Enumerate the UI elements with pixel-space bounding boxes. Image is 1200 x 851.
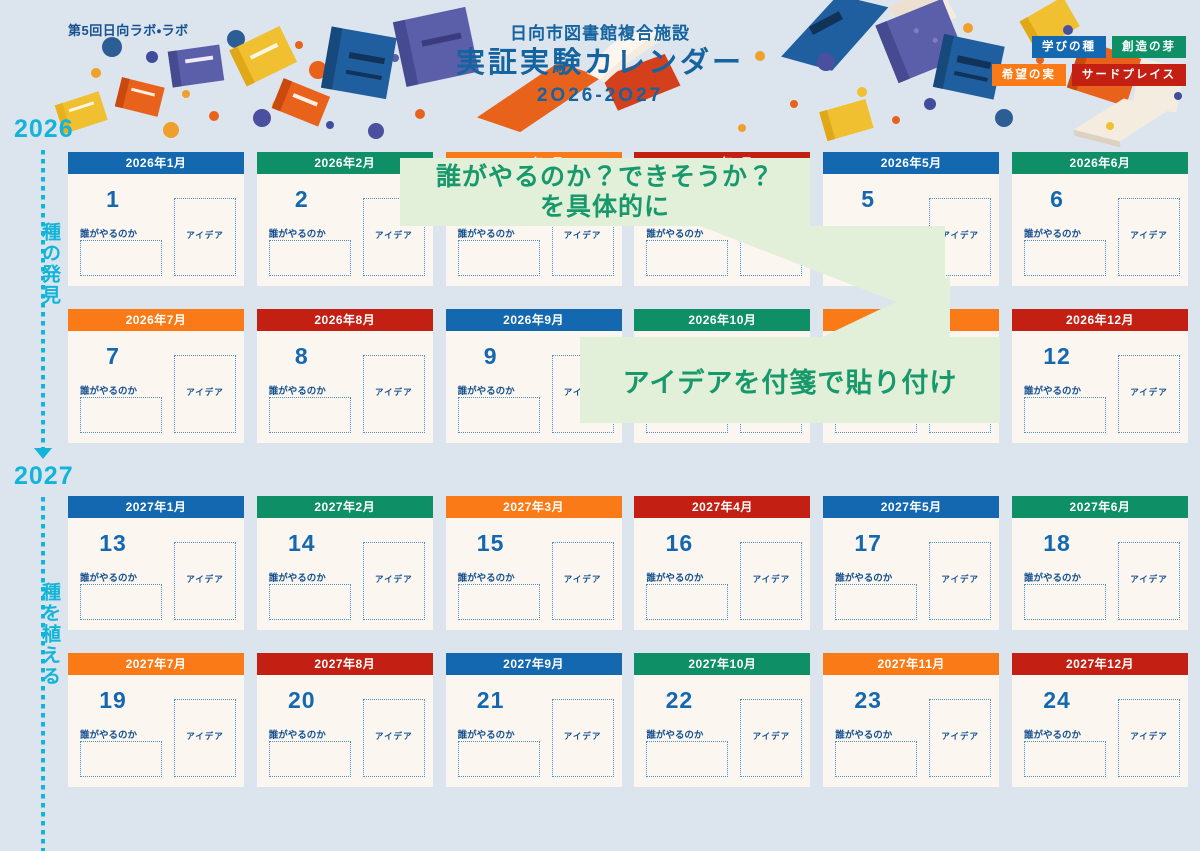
idea-label: アイデア bbox=[364, 386, 424, 398]
month-card-header: 2026年7月 bbox=[68, 309, 244, 331]
idea-label: アイデア bbox=[553, 573, 613, 585]
who-label: 誰がやるのか bbox=[80, 727, 137, 741]
month-card-number: 5 bbox=[861, 186, 875, 213]
month-card[interactable]: 2027年2月14誰がやるのかアイデア bbox=[257, 496, 433, 630]
month-card-header: 2027年12月 bbox=[1012, 653, 1188, 675]
month-card-number: 15 bbox=[477, 530, 505, 557]
month-card-number: 16 bbox=[666, 530, 694, 557]
callout-sticky-ideas: アイデアを付箋で貼り付け bbox=[580, 337, 1000, 423]
month-card-body: 22誰がやるのかアイデア bbox=[634, 675, 810, 787]
month-card-header: 2027年9月 bbox=[446, 653, 622, 675]
month-card-header: 2026年12月 bbox=[1012, 309, 1188, 331]
callout-who-does-it: 誰がやるのか？できそうか？を具体的に bbox=[400, 158, 810, 226]
month-card-number: 22 bbox=[666, 687, 694, 714]
legend-item-souzou[interactable]: 創造の芽 bbox=[1112, 36, 1186, 58]
who-label: 誰がやるのか bbox=[269, 383, 326, 397]
who-label: 誰がやるのか bbox=[80, 570, 137, 584]
who-label: 誰がやるのか bbox=[80, 226, 137, 240]
month-card-header: 2026年6月 bbox=[1012, 152, 1188, 174]
who-input-box[interactable] bbox=[835, 741, 917, 777]
month-card-number: 2 bbox=[295, 186, 309, 213]
who-label: 誰がやるのか bbox=[1024, 383, 1081, 397]
month-card[interactable]: 2027年12月24誰がやるのかアイデア bbox=[1012, 653, 1188, 787]
who-input-box[interactable] bbox=[80, 240, 162, 276]
who-label: 誰がやるのか bbox=[458, 383, 515, 397]
month-card-body: 7誰がやるのかアイデア bbox=[68, 331, 244, 443]
month-card-body: 21誰がやるのかアイデア bbox=[446, 675, 622, 787]
who-label: 誰がやるのか bbox=[80, 383, 137, 397]
month-card-header: 2027年10月 bbox=[634, 653, 810, 675]
idea-input-box[interactable]: アイデア bbox=[363, 699, 425, 777]
who-label: 誰がやるのか bbox=[269, 226, 326, 240]
who-input-box[interactable] bbox=[80, 397, 162, 433]
month-card-number: 14 bbox=[288, 530, 316, 557]
month-card-number: 9 bbox=[484, 343, 498, 370]
idea-label: アイデア bbox=[1119, 386, 1179, 398]
month-card[interactable]: 2027年7月19誰がやるのかアイデア bbox=[68, 653, 244, 787]
month-card-body: 17誰がやるのかアイデア bbox=[823, 518, 999, 630]
month-card-body: 12誰がやるのかアイデア bbox=[1012, 331, 1188, 443]
month-card-body: 8誰がやるのかアイデア bbox=[257, 331, 433, 443]
who-input-box[interactable] bbox=[458, 397, 540, 433]
idea-label: アイデア bbox=[364, 229, 424, 241]
month-card-number: 13 bbox=[99, 530, 127, 557]
who-input-box[interactable] bbox=[458, 584, 540, 620]
idea-label: アイデア bbox=[741, 730, 801, 742]
month-card-number: 8 bbox=[295, 343, 309, 370]
month-card[interactable]: 2026年1月1誰がやるのかアイデア bbox=[68, 152, 244, 286]
idea-label: アイデア bbox=[553, 229, 613, 241]
month-card[interactable]: 2026年12月12誰がやるのかアイデア bbox=[1012, 309, 1188, 443]
who-input-box[interactable] bbox=[1024, 240, 1106, 276]
idea-input-box[interactable]: アイデア bbox=[174, 198, 236, 276]
who-label: 誰がやるのか bbox=[835, 570, 892, 584]
title-year-range: 2O26-2O27 bbox=[430, 85, 770, 107]
month-card-body: 6誰がやるのかアイデア bbox=[1012, 174, 1188, 286]
idea-label: アイデア bbox=[364, 573, 424, 585]
month-card-body: 16誰がやるのかアイデア bbox=[634, 518, 810, 630]
who-input-box[interactable] bbox=[458, 240, 540, 276]
who-input-box[interactable] bbox=[458, 741, 540, 777]
month-card[interactable]: 2026年7月7誰がやるのかアイデア bbox=[68, 309, 244, 443]
legend-item-kibou[interactable]: 希望の実 bbox=[992, 64, 1066, 86]
month-card[interactable]: 2027年10月22誰がやるのかアイデア bbox=[634, 653, 810, 787]
idea-input-box[interactable]: アイデア bbox=[740, 699, 802, 777]
month-card-header: 2026年9月 bbox=[446, 309, 622, 331]
month-card-header: 2027年4月 bbox=[634, 496, 810, 518]
calendar-row-2027-h1: 2027年1月13誰がやるのかアイデア2027年2月14誰がやるのかアイデア20… bbox=[68, 496, 1188, 630]
who-input-box[interactable] bbox=[646, 240, 728, 276]
idea-input-box[interactable]: アイデア bbox=[174, 699, 236, 777]
idea-label: アイデア bbox=[1119, 730, 1179, 742]
month-card-header: 2027年3月 bbox=[446, 496, 622, 518]
idea-label: アイデア bbox=[175, 386, 235, 398]
who-input-box[interactable] bbox=[646, 584, 728, 620]
month-card-number: 19 bbox=[99, 687, 127, 714]
month-card[interactable]: 2027年3月15誰がやるのかアイデア bbox=[446, 496, 622, 630]
who-label: 誰がやるのか bbox=[269, 570, 326, 584]
month-card-body: 1誰がやるのかアイデア bbox=[68, 174, 244, 286]
callout-text: アイデアを付箋で貼り付け bbox=[623, 361, 958, 400]
legend-item-manabi[interactable]: 学びの種 bbox=[1032, 36, 1106, 58]
who-label: 誰がやるのか bbox=[646, 570, 703, 584]
who-input-box[interactable] bbox=[269, 397, 351, 433]
idea-label: アイデア bbox=[930, 730, 990, 742]
idea-input-box[interactable]: アイデア bbox=[552, 699, 614, 777]
who-input-box[interactable] bbox=[1024, 741, 1106, 777]
month-card-number: 24 bbox=[1043, 687, 1071, 714]
month-card-number: 17 bbox=[854, 530, 882, 557]
idea-label: アイデア bbox=[175, 229, 235, 241]
month-card-number: 20 bbox=[288, 687, 316, 714]
who-input-box[interactable] bbox=[1024, 397, 1106, 433]
who-label: 誰がやるのか bbox=[1024, 570, 1081, 584]
month-card-header: 2027年11月 bbox=[823, 653, 999, 675]
month-card-body: 23誰がやるのかアイデア bbox=[823, 675, 999, 787]
month-card-header: 2026年5月 bbox=[823, 152, 999, 174]
who-label: 誰がやるのか bbox=[458, 570, 515, 584]
idea-label: アイデア bbox=[553, 730, 613, 742]
idea-input-box[interactable]: アイデア bbox=[1118, 198, 1180, 276]
month-card[interactable]: 2027年6月18誰がやるのかアイデア bbox=[1012, 496, 1188, 630]
month-card-body: 13誰がやるのかアイデア bbox=[68, 518, 244, 630]
month-card-body: 19誰がやるのかアイデア bbox=[68, 675, 244, 787]
month-card[interactable]: 2027年9月21誰がやるのかアイデア bbox=[446, 653, 622, 787]
idea-input-box[interactable]: アイデア bbox=[1118, 542, 1180, 620]
month-card[interactable]: 2027年5月17誰がやるのかアイデア bbox=[823, 496, 999, 630]
month-card-header: 2027年7月 bbox=[68, 653, 244, 675]
callout-text: 誰がやるのか？できそうか？を具体的に bbox=[436, 162, 774, 223]
who-label: 誰がやるのか bbox=[1024, 226, 1081, 240]
month-card-body: 20誰がやるのかアイデア bbox=[257, 675, 433, 787]
month-card-header: 2026年1月 bbox=[68, 152, 244, 174]
idea-input-box[interactable]: アイデア bbox=[1118, 355, 1180, 433]
legend-item-thirdplace[interactable]: サードプレイス bbox=[1072, 64, 1186, 86]
idea-input-box[interactable]: アイデア bbox=[1118, 699, 1180, 777]
month-card-number: 12 bbox=[1043, 343, 1071, 370]
who-input-box[interactable] bbox=[269, 584, 351, 620]
timeline-rail: 2026 種の発見 2027 種を植える bbox=[0, 112, 68, 842]
rail-year-2026: 2026 bbox=[14, 115, 74, 144]
month-card[interactable]: 2027年11月23誰がやるのかアイデア bbox=[823, 653, 999, 787]
idea-label: アイデア bbox=[1119, 229, 1179, 241]
month-card-number: 6 bbox=[1050, 186, 1064, 213]
calendar-row-2027-h2: 2027年7月19誰がやるのかアイデア2027年8月20誰がやるのかアイデア20… bbox=[68, 653, 1188, 787]
idea-input-box[interactable]: アイデア bbox=[929, 542, 991, 620]
month-card-header: 2027年6月 bbox=[1012, 496, 1188, 518]
idea-input-box[interactable]: アイデア bbox=[740, 542, 802, 620]
month-card-body: 15誰がやるのかアイデア bbox=[446, 518, 622, 630]
who-input-box[interactable] bbox=[269, 240, 351, 276]
idea-input-box[interactable]: アイデア bbox=[552, 542, 614, 620]
idea-input-box[interactable]: アイデア bbox=[174, 542, 236, 620]
who-label: 誰がやるのか bbox=[269, 727, 326, 741]
idea-input-box[interactable]: アイデア bbox=[929, 699, 991, 777]
month-card-number: 7 bbox=[106, 343, 120, 370]
who-input-box[interactable] bbox=[646, 741, 728, 777]
rail-phase-label-2027: 種を植える bbox=[29, 582, 59, 687]
month-card-header: 2027年5月 bbox=[823, 496, 999, 518]
idea-label: アイデア bbox=[364, 730, 424, 742]
idea-label: アイデア bbox=[175, 573, 235, 585]
month-card-number: 23 bbox=[854, 687, 882, 714]
who-label: 誰がやるのか bbox=[646, 226, 703, 240]
who-label: 誰がやるのか bbox=[458, 727, 515, 741]
who-input-box[interactable] bbox=[269, 741, 351, 777]
who-input-box[interactable] bbox=[80, 741, 162, 777]
month-card-body: 24誰がやるのかアイデア bbox=[1012, 675, 1188, 787]
who-input-box[interactable] bbox=[835, 584, 917, 620]
idea-label: アイデア bbox=[175, 730, 235, 742]
month-card-number: 1 bbox=[106, 186, 120, 213]
month-card[interactable]: 2026年6月6誰がやるのかアイデア bbox=[1012, 152, 1188, 286]
month-card-body: 14誰がやるのかアイデア bbox=[257, 518, 433, 630]
idea-input-box[interactable]: アイデア bbox=[363, 355, 425, 433]
legend: 学びの種 創造の芽 希望の実 サードプレイス bbox=[978, 36, 1186, 86]
who-label: 誰がやるのか bbox=[458, 226, 515, 240]
month-card-header: 2026年8月 bbox=[257, 309, 433, 331]
who-input-box[interactable] bbox=[1024, 584, 1106, 620]
idea-input-box[interactable]: アイデア bbox=[363, 542, 425, 620]
event-kicker: 第5回日向ラボ・ラボ bbox=[68, 20, 189, 39]
month-card-header: 2027年8月 bbox=[257, 653, 433, 675]
month-card-number: 21 bbox=[477, 687, 505, 714]
who-label: 誰がやるのか bbox=[835, 727, 892, 741]
idea-input-box[interactable]: アイデア bbox=[174, 355, 236, 433]
month-card[interactable]: 2027年1月13誰がやるのかアイデア bbox=[68, 496, 244, 630]
month-card-header: 2027年2月 bbox=[257, 496, 433, 518]
calendar-poster: 第5回日向ラボ・ラボ 日向市図書館複合施設 実証実験カレンダー 2O26-2O2… bbox=[0, 0, 1200, 851]
who-input-box[interactable] bbox=[80, 584, 162, 620]
month-card[interactable]: 2027年8月20誰がやるのかアイデア bbox=[257, 653, 433, 787]
who-label: 誰がやるのか bbox=[1024, 727, 1081, 741]
page-title: 実証実験カレンダー bbox=[430, 44, 770, 83]
idea-label: アイデア bbox=[741, 573, 801, 585]
month-card-header: 2026年10月 bbox=[634, 309, 810, 331]
rail-arrow-2026 bbox=[34, 448, 52, 459]
month-card[interactable]: 2027年4月16誰がやるのかアイデア bbox=[634, 496, 810, 630]
month-card-number: 18 bbox=[1043, 530, 1071, 557]
month-card-body: 18誰がやるのかアイデア bbox=[1012, 518, 1188, 630]
month-card[interactable]: 2026年8月8誰がやるのかアイデア bbox=[257, 309, 433, 443]
who-label: 誰がやるのか bbox=[646, 727, 703, 741]
idea-label: アイデア bbox=[930, 573, 990, 585]
rail-year-2027: 2027 bbox=[14, 462, 74, 491]
facility-subtitle: 日向市図書館複合施設 bbox=[430, 24, 770, 44]
title-block: 日向市図書館複合施設 実証実験カレンダー 2O26-2O27 bbox=[430, 24, 770, 107]
month-card-header: 2027年1月 bbox=[68, 496, 244, 518]
rail-phase-label-2026: 種の発見 bbox=[29, 222, 59, 306]
idea-label: アイデア bbox=[1119, 573, 1179, 585]
